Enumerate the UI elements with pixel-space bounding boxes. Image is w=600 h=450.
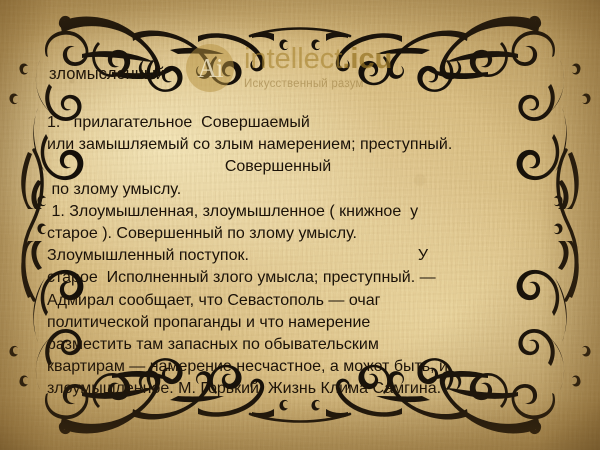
definition-line: 1. прилагательное Совершаемый — [47, 112, 559, 134]
definition-line: Совершенный — [47, 156, 559, 178]
headword: зломысленный — [49, 65, 165, 84]
definition-line: старое Исполненный злого умысла; преступ… — [47, 267, 559, 289]
definition-line: Адмирал сообщает, что Севастополь — очаг — [47, 290, 559, 312]
definition-line: по злому умыслу. — [47, 179, 559, 201]
slide-content: зломысленный 1. прилагательное Совершаем… — [0, 0, 600, 450]
slide-canvas: Ai intellect.icu Искусственный разум зло… — [0, 0, 600, 450]
definition-line: квартирам — намерение несчастное, а може… — [47, 356, 559, 378]
definition-line: Злоумышленный поступок. У — [47, 245, 559, 267]
definition-line: 1. Злоумышленная, злоумышленное ( книжно… — [47, 201, 559, 223]
definition-line: старое ). Совершенный по злому умыслу. — [47, 223, 559, 245]
definition-body: 1. прилагательное Совершаемый или замышл… — [47, 112, 559, 401]
definition-line: разместить там запасных по обывательским — [47, 334, 559, 356]
definition-line: злоумышленное. М. Горький, Жизнь Клима С… — [47, 378, 559, 400]
definition-line: или замышляемый со злым намерением; прес… — [47, 134, 559, 156]
definition-line: политической пропаганды и что намерение — [47, 312, 559, 334]
